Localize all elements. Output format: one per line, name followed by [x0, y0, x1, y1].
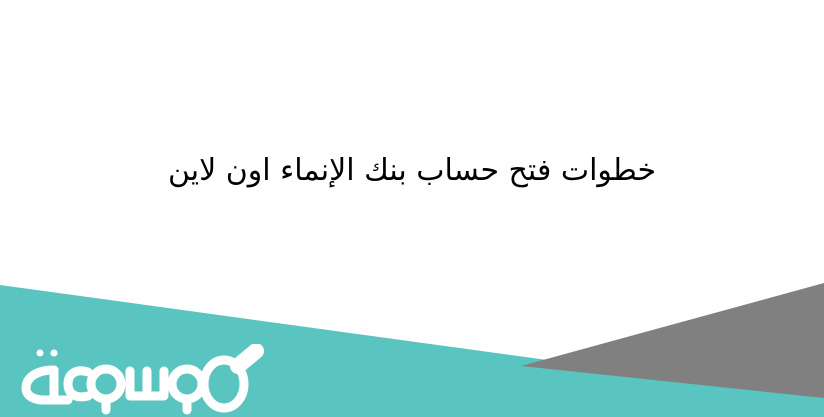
logo-wordmark [26, 350, 256, 411]
gray-wedge-shape [521, 283, 824, 398]
site-logo[interactable]: موسوعة [6, 344, 274, 416]
logo-letter-ta-marbuta [26, 350, 68, 401]
logo-letter-seen [130, 371, 164, 396]
promo-card: خطوات فتح حساب بنك الإنماء اون لاين موسو… [0, 0, 824, 417]
magnifying-glass-icon [204, 351, 256, 408]
logo-letter-ain [68, 371, 88, 397]
logo-letter-waw [172, 369, 202, 410]
logo-letter-waw-2 [91, 369, 121, 410]
page-title: خطوات فتح حساب بنك الإنماء اون لاين [0, 148, 824, 194]
